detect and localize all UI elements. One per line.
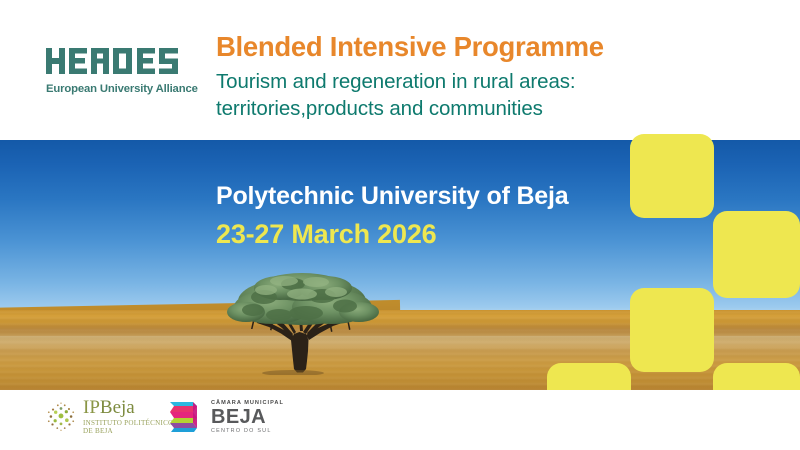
photo-field-ridge (0, 336, 800, 349)
cmbeja-title: BEJA (211, 407, 284, 427)
hero-text-block: Polytechnic University of Beja 23-27 Mar… (216, 182, 636, 250)
heroes-wordmark-icon (46, 44, 196, 78)
event-dates: 23-27 March 2026 (216, 219, 636, 250)
ipbeja-title-suffix: Beja (100, 397, 135, 418)
ipbeja-subtitle-line1: Instituto Politécnico (83, 419, 173, 427)
alliance-tagline: European University Alliance (46, 83, 196, 95)
venue-name: Polytechnic University of Beja (216, 182, 636, 211)
ipbeja-title: IPBeja (83, 398, 173, 417)
heroes-alliance-logo: European University Alliance (46, 44, 196, 95)
ipbeja-title-prefix: IP (83, 397, 100, 418)
cmbeja-bottom-line: CENTRO DO SUL (211, 428, 284, 434)
cork-oak-tree-icon (218, 270, 388, 375)
hero-photo (0, 140, 800, 390)
title-block: Blended Intensive Programme Tourism and … (216, 32, 686, 123)
ipbeja-subtitle-line2: de Beja (83, 427, 173, 435)
event-poster: European University Alliance Blended Int… (0, 0, 800, 450)
poster-subtitle-line2: territories,products and communities (216, 96, 686, 123)
ipbeja-lockup-text: IPBeja Instituto Politécnico de Beja (83, 398, 173, 435)
cmbeja-top-line: CÂMARA MUNICIPAL (211, 400, 284, 406)
cmbeja-ribbon-icon (168, 398, 205, 435)
ipbeja-logo: IPBeja Instituto Politécnico de Beja (44, 398, 173, 435)
poster-header: European University Alliance Blended Int… (0, 0, 800, 140)
camara-municipal-beja-logo: CÂMARA MUNICIPAL BEJA CENTRO DO SUL (168, 398, 284, 435)
cmbeja-lockup-text: CÂMARA MUNICIPAL BEJA CENTRO DO SUL (211, 400, 284, 434)
poster-subtitle: Tourism and regeneration in rural areas:… (216, 69, 686, 122)
poster-title: Blended Intensive Programme (216, 32, 686, 62)
poster-subtitle-line1: Tourism and regeneration in rural areas: (216, 70, 576, 93)
ipbeja-dots-icon (44, 400, 78, 434)
photo-field-texture (0, 310, 800, 390)
